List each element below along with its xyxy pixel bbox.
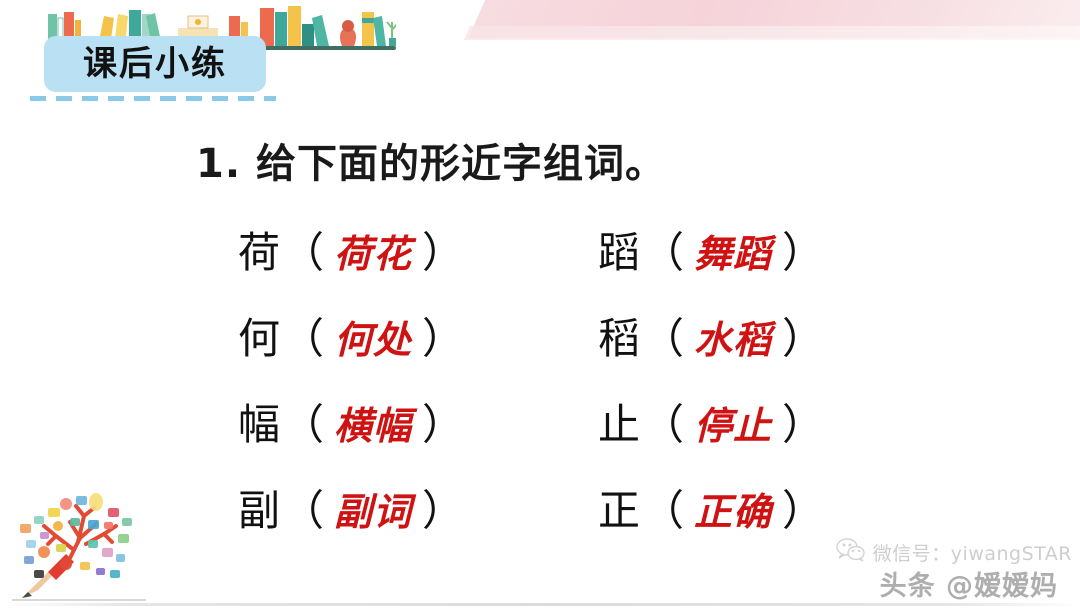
exercise-grid: 荷 （ 荷花 ） 蹈 （ 舞蹈 ） 何 （ 何处 ） 稻 （ 水稻 [238,206,878,550]
close-paren: ） [780,305,826,366]
close-paren: ） [780,219,826,280]
prompt-character: 荷 [238,219,280,280]
question-heading: 1. 给下面的形近字组词。 [196,131,666,189]
open-paren: （ [640,219,686,280]
section-title-label: 课后小练 [83,47,227,81]
open-paren: （ [280,305,326,366]
exercise-item: 止 （ 停止 ） [598,391,878,452]
close-paren: ） [780,477,826,538]
close-paren: ） [420,477,466,538]
prompt-character: 稻 [598,305,640,366]
slide-canvas: 课后小练 1. 给下面的形近字组词。 荷 （ 荷花 ） 蹈 （ 舞蹈 ） 何 （ [0,0,1080,608]
toutiao-watermark: 头条 @嫒嫒妈 [880,564,1058,603]
pencil-tree-icon [4,482,154,602]
answer-word: 水稻 [686,309,780,364]
answer-word: 何处 [326,309,420,364]
exercise-row: 荷 （ 荷花 ） 蹈 （ 舞蹈 ） [238,206,878,292]
prompt-character: 正 [598,477,640,538]
exercise-item: 副 （ 副词 ） [238,477,598,538]
prompt-character: 何 [238,305,280,366]
exercise-item: 稻 （ 水稻 ） [598,305,878,366]
dashed-rule-decoration [30,96,276,101]
close-paren: ） [780,391,826,452]
open-paren: （ [280,477,326,538]
exercise-item: 何 （ 何处 ） [238,305,598,366]
pink-ribbon-secondary-decoration [464,26,1080,40]
exercise-item: 荷 （ 荷花 ） [238,219,598,280]
close-paren: ） [420,219,466,280]
answer-word: 停止 [686,395,780,450]
open-paren: （ [640,391,686,452]
open-paren: （ [640,305,686,366]
exercise-row: 何 （ 何处 ） 稻 （ 水稻 ） [238,292,878,378]
prompt-character: 蹈 [598,219,640,280]
exercise-row: 幅 （ 横幅 ） 止 （ 停止 ） [238,378,878,464]
prompt-character: 止 [598,391,640,452]
exercise-row: 副 （ 副词 ） 正 （ 正确 ） [238,464,878,550]
exercise-item: 幅 （ 横幅 ） [238,391,598,452]
wechat-id-text: 微信号：yiwangSTAR [873,539,1072,566]
exercise-item: 正 （ 正确 ） [598,477,878,538]
answer-word: 横幅 [326,395,420,450]
close-paren: ） [420,391,466,452]
answer-word: 舞蹈 [686,223,780,278]
section-title-badge: 课后小练 [44,36,266,92]
close-paren: ） [420,305,466,366]
wechat-watermark: 微信号：yiwangSTAR [836,538,1072,567]
open-paren: （ [280,391,326,452]
answer-word: 正确 [686,481,780,536]
wechat-icon [836,538,866,567]
open-paren: （ [280,219,326,280]
answer-word: 荷花 [326,223,420,278]
open-paren: （ [640,477,686,538]
answer-word: 副词 [326,481,420,536]
bottom-divider [0,603,1080,606]
prompt-character: 幅 [238,391,280,452]
prompt-character: 副 [238,477,280,538]
exercise-item: 蹈 （ 舞蹈 ） [598,219,878,280]
